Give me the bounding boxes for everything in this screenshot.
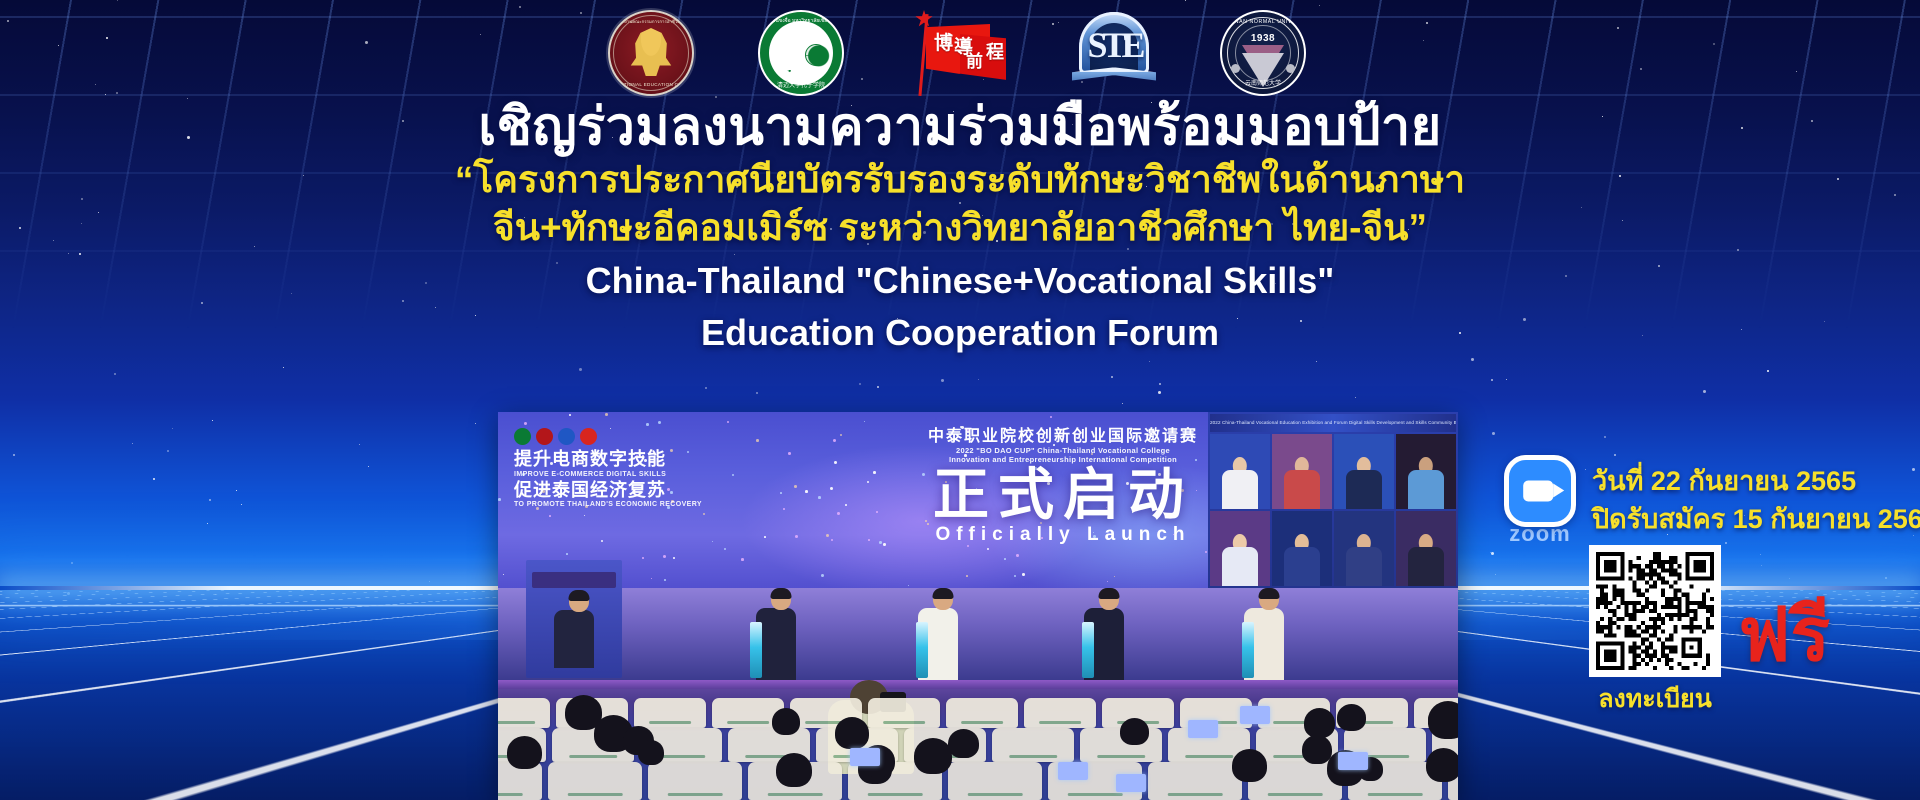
yunnan-normal-university-seal-icon: YUNNAN NORMAL UNIVERSITY 1938 云南师范大学: [1220, 10, 1312, 102]
banner-left-en-2: TO PROMOTE THAILAND'S ECONOMIC RECOVERY: [514, 501, 794, 508]
banner-left-en-1: IMPROVE E-COMMERCE DIGITAL SKILLS: [514, 471, 794, 478]
ste-emblem-icon: STE: [1070, 10, 1162, 102]
bodao-flag-logo-icon: 博 導 前 程: [908, 10, 1012, 102]
register-label: ลงทะเบียน: [1589, 679, 1721, 719]
event-date: วันที่ 22 กันยายน 2565: [1592, 462, 1920, 500]
stage-floor: [498, 588, 1458, 680]
speaker-person: [564, 590, 594, 668]
page-title: เชิญร่วมลงนามความร่วมมือพร้อมมอบป้าย: [0, 98, 1920, 156]
seal-thai-top-text: สำนักงานคณะกรรมการการอาชีวศึกษา: [610, 18, 692, 25]
subtitle-en-line-2: Education Cooperation Forum: [0, 311, 1920, 355]
video-cell: [1272, 434, 1332, 509]
banner-left-cn-2: 促进泰国经济复苏: [514, 481, 794, 502]
speaker-person: [766, 588, 796, 680]
poster-headings: เชิญร่วมลงนามความร่วมมือพร้อมมอบป้าย “โค…: [0, 98, 1920, 355]
registration-deadline: ปิดรับสมัคร 15 กันยายน 2565: [1592, 500, 1920, 538]
confucius-top-text: สถาบันขงจื่อ มหาวิทยาลัยเชียงใหม่: [760, 17, 842, 25]
speaker-person: [928, 588, 958, 680]
event-dates: วันที่ 22 กันยายน 2565 ปิดรับสมัคร 15 กั…: [1592, 462, 1920, 539]
audience-seating: [498, 680, 1458, 800]
event-photo: 提升电商数字技能 IMPROVE E-COMMERCE DIGITAL SKIL…: [498, 412, 1458, 800]
launch-podium-stand: [750, 622, 762, 678]
video-cell: [1210, 434, 1270, 509]
stage-led-screen: 提升电商数字技能 IMPROVE E-COMMERCE DIGITAL SKIL…: [498, 412, 1458, 588]
vocational-education-commission-seal-icon: สำนักงานคณะกรรมการการอาชีวศึกษา VOCATION…: [608, 10, 700, 102]
video-cell: [1272, 511, 1332, 586]
speaker-person: [1254, 588, 1284, 680]
flag-char-3: 前: [966, 54, 983, 71]
free-badge: ฟรี: [1738, 598, 1830, 672]
subtitle-thai-line-1: “โครงการประกาศนียบัตรรับรองระดับทักษะวิช…: [0, 156, 1920, 203]
video-cell: [1210, 511, 1270, 586]
ste-monogram: STE: [1070, 24, 1158, 66]
video-cell: [1396, 511, 1456, 586]
subtitle-en-line-1: China-Thailand "Chinese+Vocational Skill…: [0, 259, 1920, 303]
video-cell: [1334, 511, 1394, 586]
launch-podium-stand: [916, 622, 928, 678]
video-conference-grid: 2022 China-Thailand Vocational Education…: [1208, 412, 1458, 588]
speaker-person: [1094, 588, 1124, 680]
video-cell: [1396, 434, 1456, 509]
flag-char-4: 程: [986, 44, 1004, 62]
partner-logo-row: สำนักงานคณะกรรมการการอาชีวศึกษา VOCATION…: [0, 8, 1920, 104]
zoom-app-logo: zoom: [1497, 455, 1583, 547]
seal-thai-bottom-text: VOCATIONAL EDUCATION COMMISSION: [610, 82, 692, 87]
zoom-camera-icon: [1504, 455, 1576, 527]
confucius-bottom-text: 清迈大学孔子学院: [760, 80, 842, 89]
video-grid-title: 2022 China-Thailand Vocational Education…: [1210, 414, 1456, 432]
confucius-institute-seal-icon: สถาบันขงจื่อ มหาวิทยาลัยเชียงใหม่ 清迈大学孔子…: [758, 10, 850, 102]
launch-podium-stand: [1082, 622, 1094, 678]
ynnu-year: 1938: [1222, 33, 1304, 44]
ynnu-top-text: YUNNAN NORMAL UNIVERSITY: [1222, 19, 1304, 25]
qr-code[interactable]: [1589, 545, 1721, 677]
stage-banner-left: 提升电商数字技能 IMPROVE E-COMMERCE DIGITAL SKIL…: [514, 428, 794, 511]
subtitle-thai-line-2: จีน+ทักษะอีคอมเมิร์ซ ระหว่างวิทยาลัยอาชี…: [0, 204, 1920, 251]
registration-qr-block[interactable]: ลงทะเบียน: [1589, 545, 1721, 719]
launch-podium-stand: [1242, 622, 1254, 678]
event-poster: สำนักงานคณะกรรมการการอาชีวศึกษา VOCATION…: [0, 0, 1920, 800]
ynnu-bottom-text: 云南师范大学: [1222, 78, 1304, 87]
video-cell: [1334, 434, 1394, 509]
flag-char-1: 博: [934, 34, 953, 53]
banner-left-cn-1: 提升电商数字技能: [514, 450, 794, 471]
